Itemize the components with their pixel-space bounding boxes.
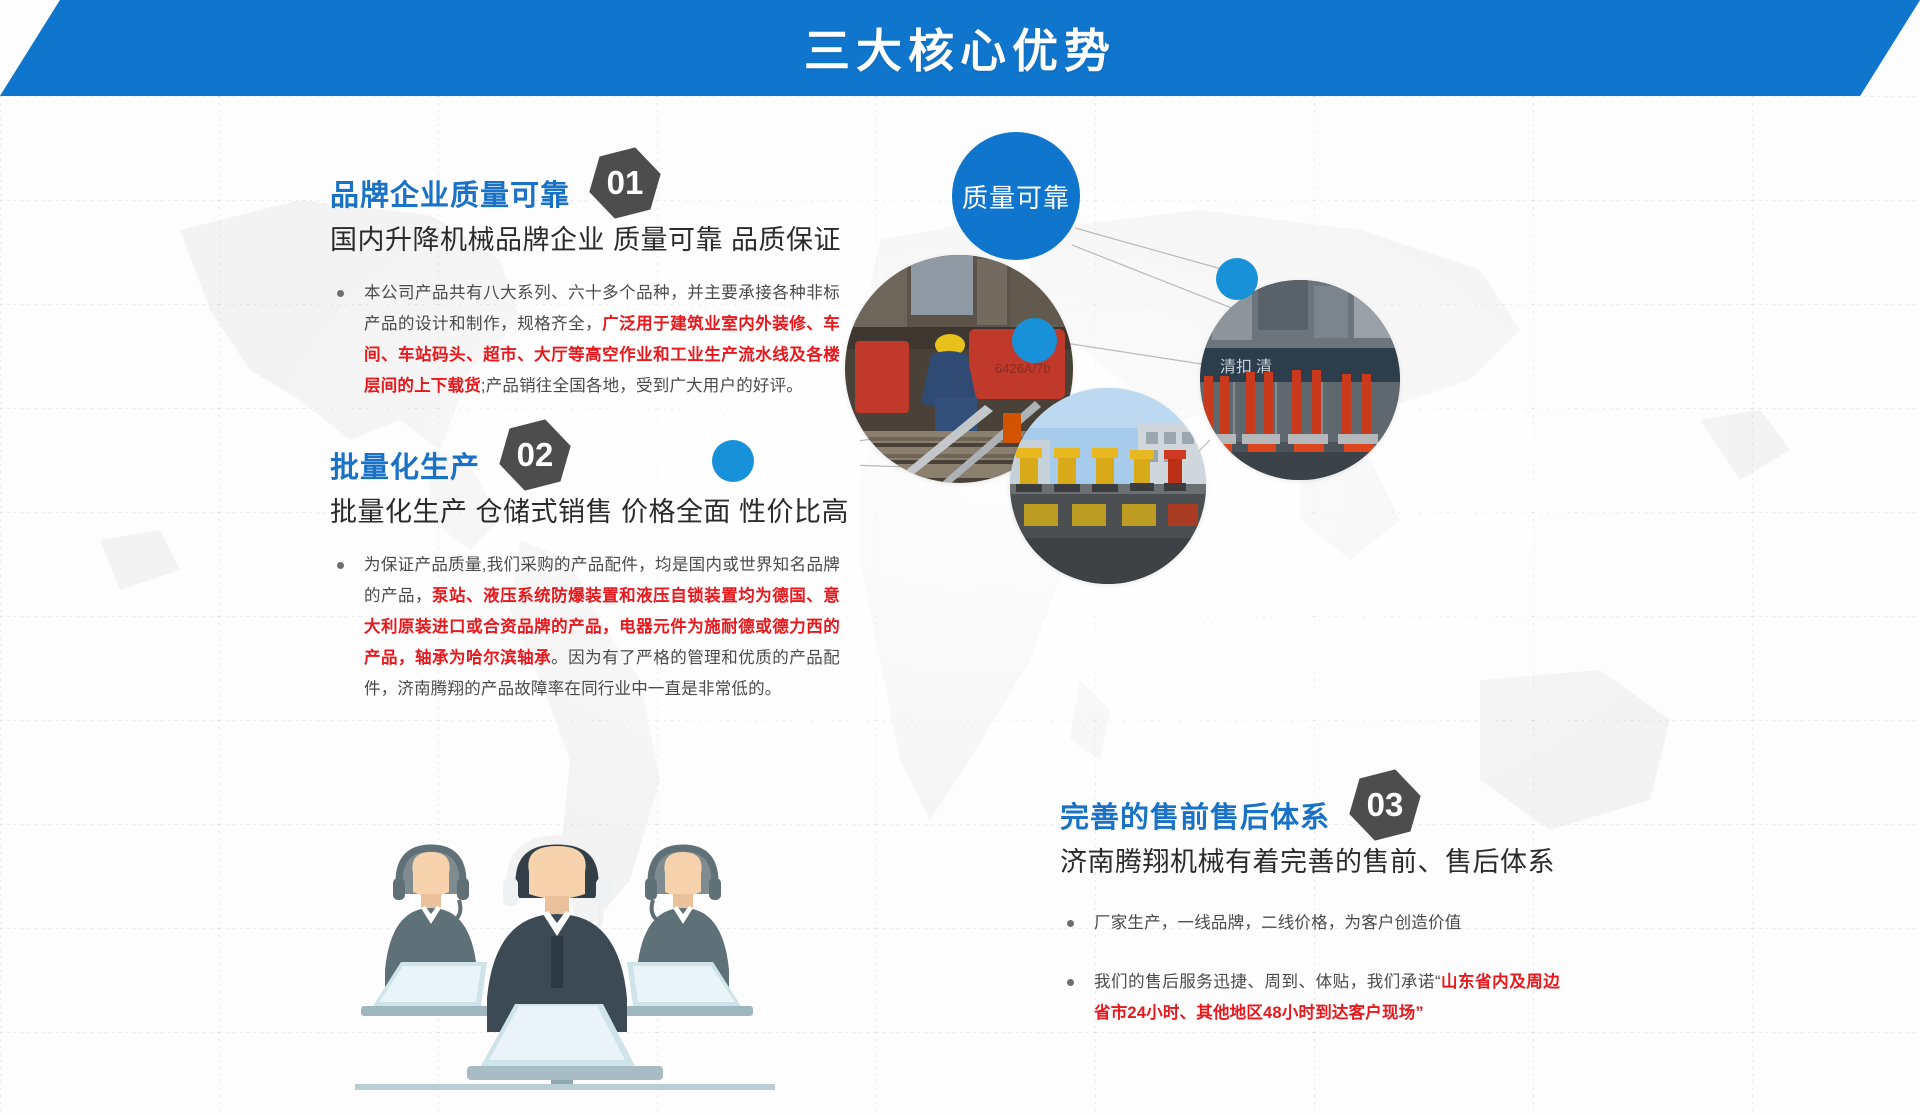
- connector-dot-top-right: [1216, 258, 1258, 300]
- section-02: 批量化生产 02 批量化生产 仓储式销售 价格全面 性价比高 为保证产品质量,我…: [330, 440, 870, 494]
- list-item: 为保证产品质量,我们采购的产品配件，均是国内或世界知名品牌的产品，泵站、液压系统…: [330, 550, 840, 705]
- section-01-subtitle: 国内升降机械品牌企业 质量可靠 品质保证: [330, 218, 841, 257]
- cs-agent-center: [487, 836, 627, 1032]
- bullet-text-plain: 我们的售后服务迅捷、周到、体贴，我们承诺“: [1094, 973, 1441, 991]
- section-01-header: 品牌企业质量可靠 01: [330, 168, 870, 222]
- yard-lifts-photo: [1010, 388, 1206, 584]
- section-02-bullets: 为保证产品质量,我们采购的产品配件，均是国内或世界知名品牌的产品，泵站、液压系统…: [330, 550, 840, 727]
- page-banner: 三大核心优势: [0, 0, 1920, 96]
- section-02-title: 批量化生产: [330, 444, 480, 486]
- poster-canvas: 三大核心优势 品牌企业质量可靠 01 国内升降机械品牌企业 质量可靠 品质保证 …: [0, 0, 1920, 1116]
- section-02-subtitle: 批量化生产 仓储式销售 价格全面 性价比高: [330, 490, 849, 529]
- svg-text:6426A/7b: 6426A/7b: [995, 361, 1051, 376]
- section-01-bullets: 本公司产品共有八大系列、六十多个品种，并主要承接各种非标产品的设计和制作，规格齐…: [330, 278, 840, 424]
- page-title: 三大核心优势: [0, 0, 1920, 96]
- section-03-number: 03: [1348, 768, 1422, 842]
- section-01-number: 01: [588, 146, 662, 220]
- section-02-number: 02: [498, 418, 572, 492]
- section-03-header: 完善的售前售后体系 03: [1060, 790, 1620, 844]
- section-03: 完善的售前售后体系 03 济南腾翔机械有着完善的售前、售后体系 厂家生产，一线品…: [1060, 790, 1620, 844]
- quality-bubble: 质量可靠: [952, 132, 1080, 260]
- connector-dot-left: [712, 440, 754, 482]
- bullet-text-plain-tail: ;产品销往全国各地，受到广大用户的好评。: [481, 377, 803, 395]
- section-01-number-badge: 01: [579, 137, 671, 229]
- list-item: 我们的售后服务迅捷、周到、体贴，我们承诺“山东省内及周边省市24小时、其他地区4…: [1060, 967, 1560, 1029]
- warehouse-lifts-photo: 清扣 清: [1200, 280, 1400, 480]
- customer-service-illustration: [355, 790, 775, 1090]
- quality-bubble-label: 质量可靠: [962, 178, 1070, 215]
- section-01-title: 品牌企业质量可靠: [330, 172, 570, 214]
- section-03-bullets: 厂家生产，一线品牌，二线价格，为客户创造价值 我们的售后服务迅捷、周到、体贴，我…: [1060, 908, 1560, 1051]
- cs-laptop-left: [361, 962, 493, 1016]
- section-03-subtitle: 济南腾翔机械有着完善的售前、售后体系: [1060, 840, 1555, 879]
- section-01: 品牌企业质量可靠 01 国内升降机械品牌企业 质量可靠 品质保证 本公司产品共有…: [330, 168, 870, 222]
- network-diagram: 6426A/7b: [860, 150, 1580, 590]
- list-item: 厂家生产，一线品牌，二线价格，为客户创造价值: [1060, 908, 1560, 939]
- cs-laptop-right: [621, 962, 753, 1016]
- section-03-number-badge: 03: [1339, 759, 1431, 851]
- bullet-text-plain-tail: ”: [1415, 1004, 1423, 1022]
- section-03-title: 完善的售前售后体系: [1060, 794, 1330, 836]
- bullet-text-plain: 厂家生产，一线品牌，二线价格，为客户创造价值: [1094, 914, 1461, 932]
- list-item: 本公司产品共有八大系列、六十多个品种，并主要承接各种非标产品的设计和制作，规格齐…: [330, 278, 840, 402]
- section-02-header: 批量化生产 02: [330, 440, 870, 494]
- connector-dot-center: [1012, 318, 1057, 363]
